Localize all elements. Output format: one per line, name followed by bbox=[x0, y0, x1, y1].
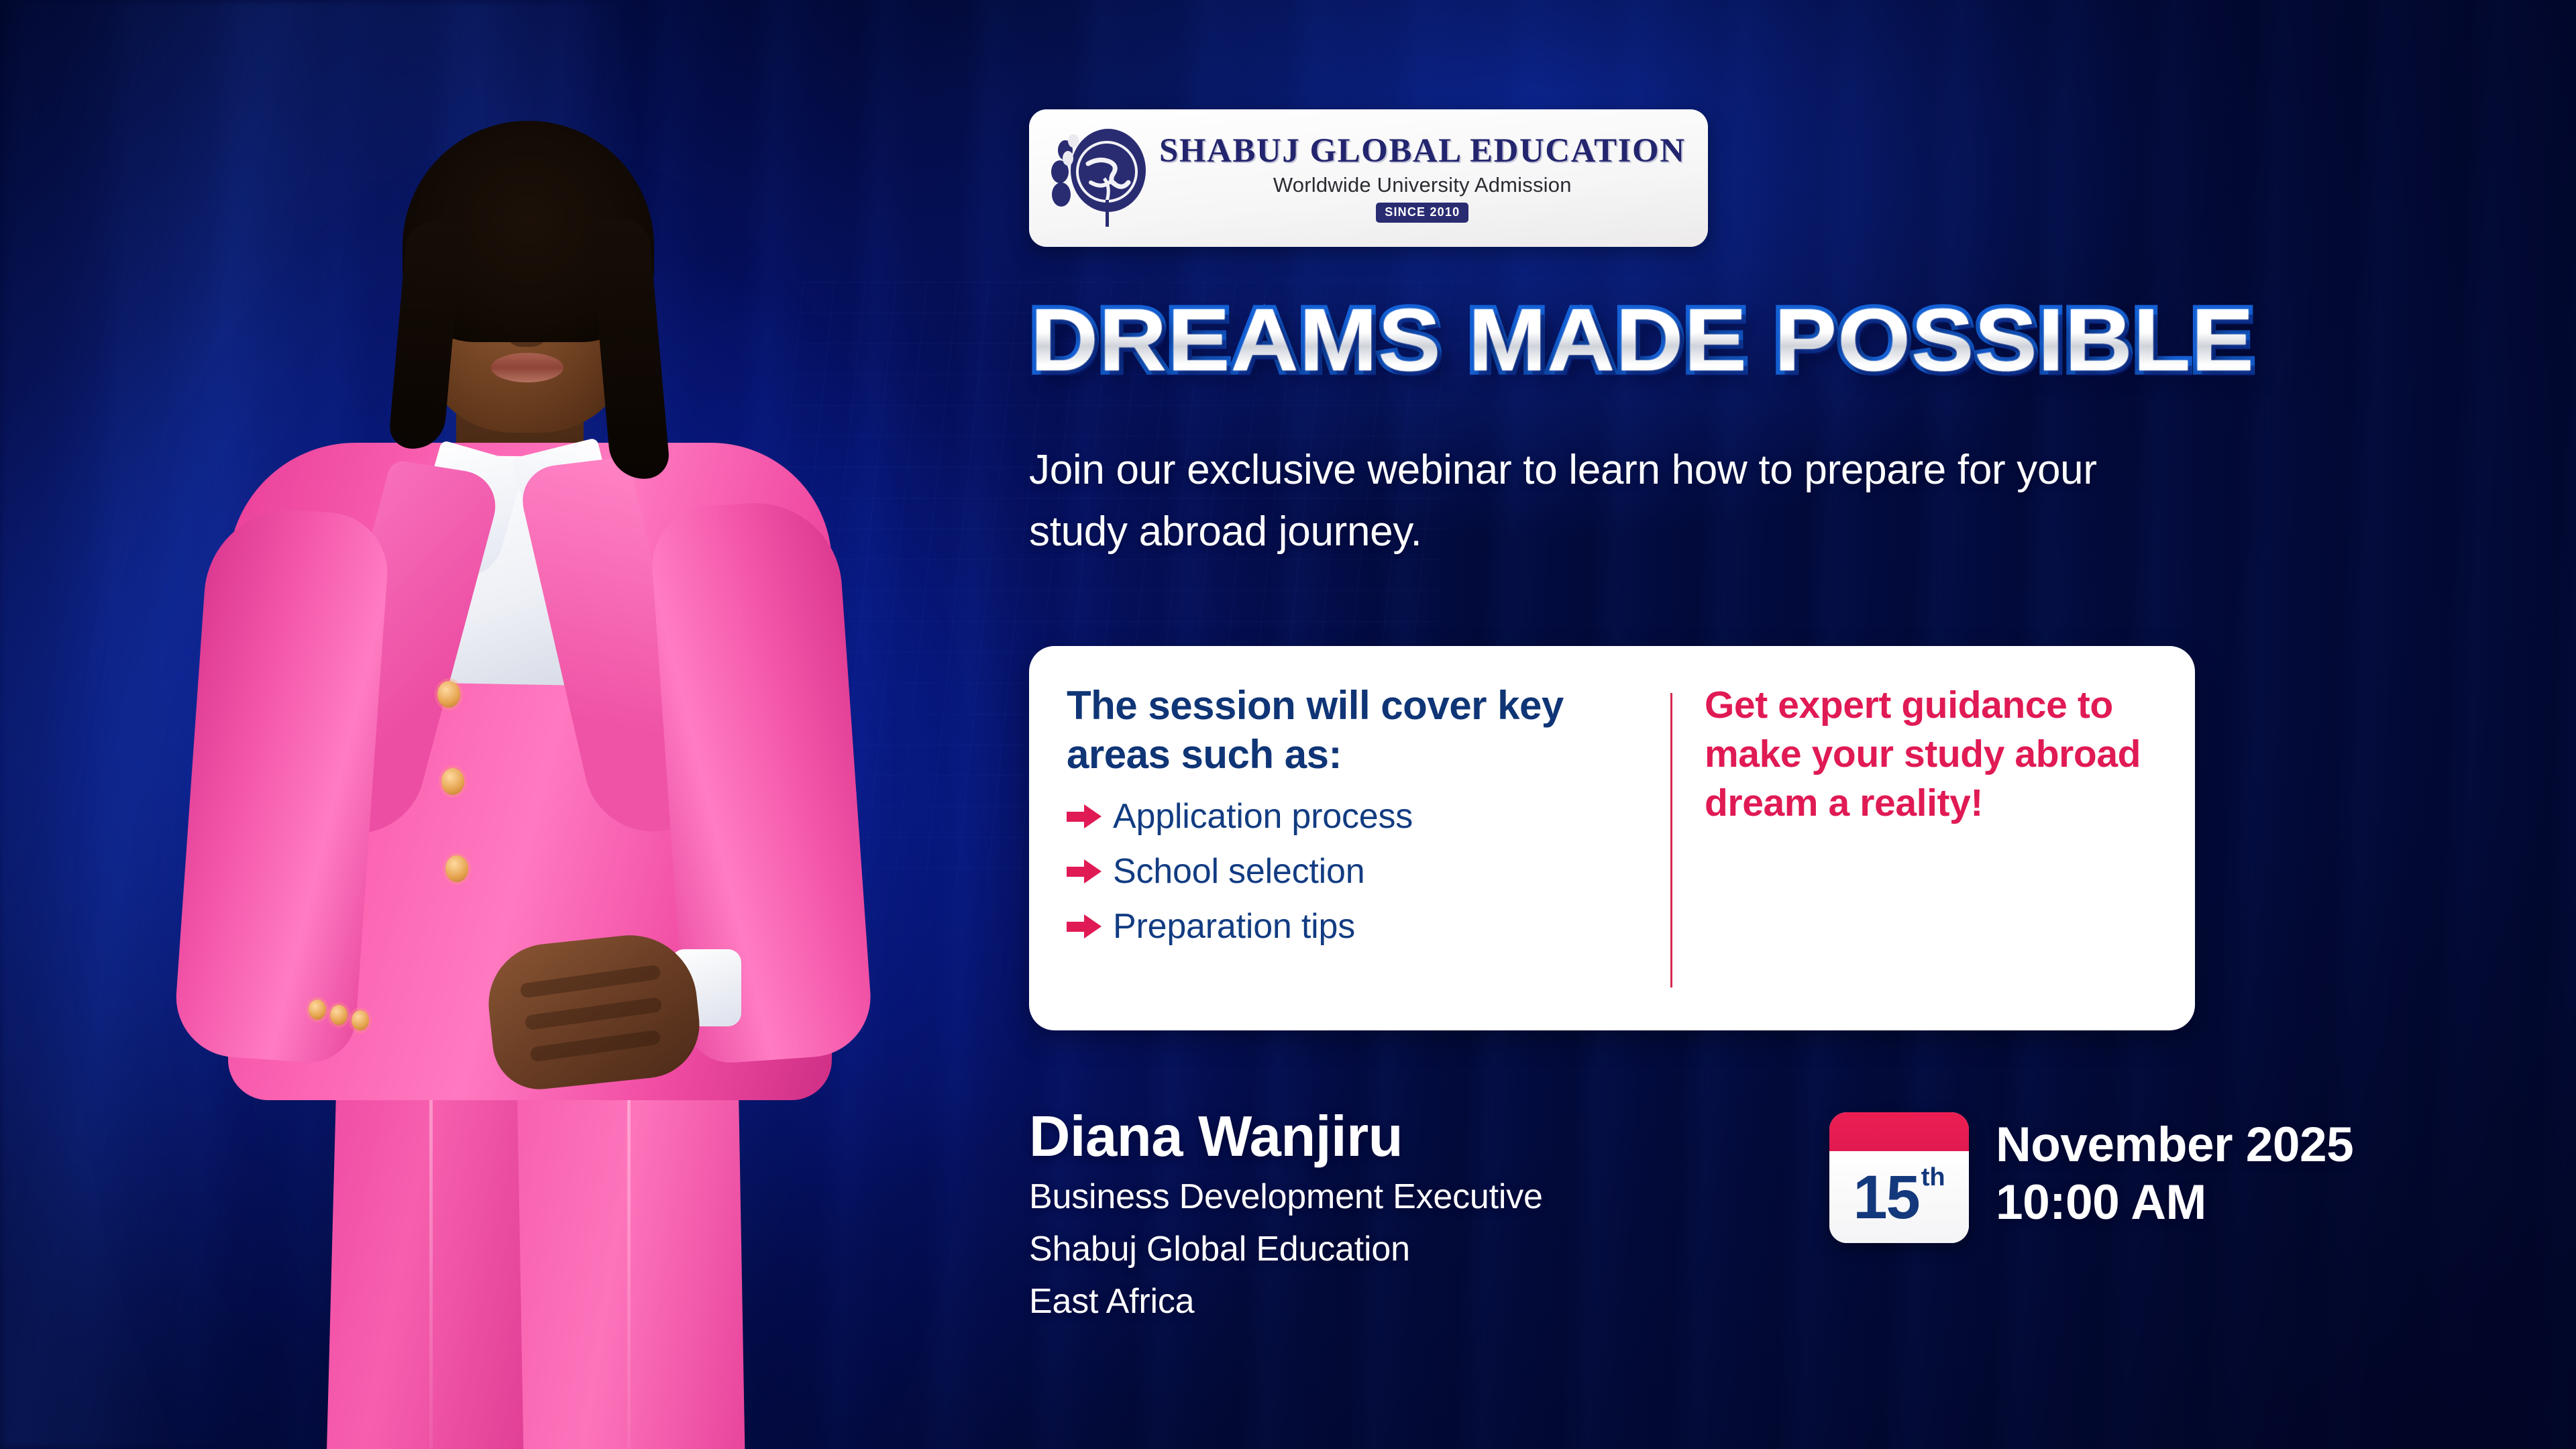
event-datetime-text: November 2025 10:00 AM bbox=[1996, 1112, 2353, 1232]
calendar-icon-header bbox=[1829, 1112, 1969, 1151]
session-heading: The session will cover key areas such as… bbox=[1067, 681, 1670, 779]
speaker-photo bbox=[27, 40, 1033, 1449]
event-datetime: 15 th November 2025 10:00 AM bbox=[1829, 1112, 2353, 1243]
arrow-right-icon bbox=[1067, 914, 1102, 938]
speaker-blazer-button-3 bbox=[445, 855, 468, 882]
cta-text: Get expert guidance to make your study a… bbox=[1705, 681, 2168, 828]
speaker-lips bbox=[491, 353, 563, 382]
speaker-cuff-button-3 bbox=[352, 1010, 369, 1030]
cta-column: Get expert guidance to make your study a… bbox=[1705, 681, 2168, 1004]
speaker-cuff-button-1 bbox=[309, 1000, 326, 1020]
list-item: Application process bbox=[1067, 796, 1670, 837]
speaker-arm-left bbox=[172, 504, 392, 1066]
event-month-year: November 2025 bbox=[1996, 1116, 2353, 1174]
since-badge: SINCE 2010 bbox=[1376, 203, 1468, 223]
event-day-number: 15 bbox=[1853, 1167, 1919, 1228]
speaker-organization: Shabuj Global Education bbox=[1029, 1223, 1801, 1275]
brand-logo-card: SHABUJ GLOBAL EDUCATION Worldwide Univer… bbox=[1029, 109, 1708, 247]
session-topics-column: The session will cover key areas such as… bbox=[1067, 681, 1670, 1004]
arrow-right-icon bbox=[1067, 804, 1102, 828]
logo-title: SHABUJ GLOBAL EDUCATION bbox=[1159, 134, 1686, 168]
card-vertical-divider bbox=[1670, 693, 1672, 987]
speaker-blazer-button-1 bbox=[437, 681, 460, 708]
list-item-label: Application process bbox=[1113, 796, 1413, 837]
arrow-right-icon bbox=[1067, 859, 1102, 883]
session-details-card: The session will cover key areas such as… bbox=[1029, 646, 2195, 1030]
calendar-icon: 15 th bbox=[1829, 1112, 1969, 1243]
headline-stroke: DREAMS MADE POSSIBLE bbox=[1030, 290, 2576, 390]
list-item: Preparation tips bbox=[1067, 906, 1670, 947]
webinar-poster: SHABUJ GLOBAL EDUCATION Worldwide Univer… bbox=[0, 0, 2576, 1449]
subtitle-text: Join our exclusive webinar to learn how … bbox=[1029, 439, 2156, 563]
speaker-job-title: Business Development Executive bbox=[1029, 1171, 1801, 1223]
calendar-icon-body: 15 th bbox=[1829, 1151, 1969, 1243]
speaker-details: Diana Wanjiru Business Development Execu… bbox=[1029, 1104, 1801, 1328]
globe-tree-logo-icon bbox=[1049, 125, 1150, 232]
event-day-suffix: th bbox=[1921, 1163, 1945, 1192]
speaker-cuff-button-2 bbox=[330, 1005, 347, 1025]
session-topic-list: Application process School selection Pre… bbox=[1067, 796, 1670, 947]
list-item-label: School selection bbox=[1113, 851, 1364, 892]
list-item-label: Preparation tips bbox=[1113, 906, 1355, 947]
speaker-region: East Africa bbox=[1029, 1275, 1801, 1328]
speaker-blazer-button-2 bbox=[441, 768, 464, 795]
speaker-bottom-fade bbox=[27, 1368, 1033, 1449]
logo-subtitle: Worldwide University Admission bbox=[1273, 173, 1572, 197]
list-item: School selection bbox=[1067, 851, 1670, 892]
event-time: 10:00 AM bbox=[1996, 1174, 2353, 1232]
speaker-name: Diana Wanjiru bbox=[1029, 1104, 1801, 1171]
